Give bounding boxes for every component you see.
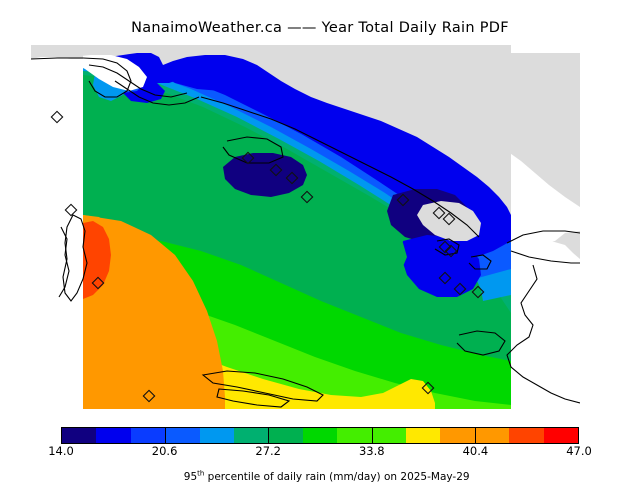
colorbar-swatch-4 (200, 428, 234, 443)
colorbar-swatch-10 (406, 428, 440, 443)
colorbar-swatch-7 (303, 428, 337, 443)
colorbar-swatch-13 (509, 428, 543, 443)
colorbar-tick-labels: 14.020.627.233.840.447.0 (61, 444, 579, 458)
colorbar-tick-14.0: 14.0 (48, 444, 74, 458)
colorbar-separator (165, 427, 166, 444)
weather-map-figure: NanaimoWeather.ca —— Year Total Daily Ra… (0, 0, 640, 480)
colorbar-swatch-6 (268, 428, 302, 443)
caption-suffix: percentile of daily rain (mm/day) on 202… (204, 471, 469, 483)
colorbar-swatch-14 (544, 428, 578, 443)
colorbar-swatch-5 (234, 428, 268, 443)
colorbar-tick-20.6: 20.6 (152, 444, 178, 458)
colorbar-swatch-0 (62, 428, 96, 443)
colorbar-swatch-3 (165, 428, 199, 443)
colorbar-swatch-2 (131, 428, 165, 443)
colorbar-separator (372, 427, 373, 444)
colorbar-tick-27.2: 27.2 (255, 444, 281, 458)
colorbar-swatch-1 (96, 428, 130, 443)
colorbar-swatch-8 (337, 428, 371, 443)
colorbar-tick-33.8: 33.8 (359, 444, 385, 458)
contour-map-svg (31, 45, 580, 409)
land-white-mainland (511, 239, 580, 409)
colorbar-container[interactable] (61, 427, 579, 444)
colorbar-tick-47.0: 47.0 (566, 444, 592, 458)
colorbar-caption: 95th percentile of daily rain (mm/day) o… (0, 459, 640, 495)
colorbar-swatch-12 (475, 428, 509, 443)
land-white-leftmargin (31, 45, 83, 409)
colorbar-separator (475, 427, 476, 444)
land-grey-topleftstrip (31, 45, 83, 59)
colorbar[interactable] (61, 427, 579, 444)
caption-prefix: 95 (184, 471, 197, 483)
colorbar-tick-40.4: 40.4 (463, 444, 489, 458)
colorbar-swatch-11 (440, 428, 474, 443)
map-plot-area[interactable] (31, 45, 580, 409)
colorbar-separator (268, 427, 269, 444)
page-title: NanaimoWeather.ca —— Year Total Daily Ra… (0, 20, 640, 36)
colorbar-swatch-9 (372, 428, 406, 443)
